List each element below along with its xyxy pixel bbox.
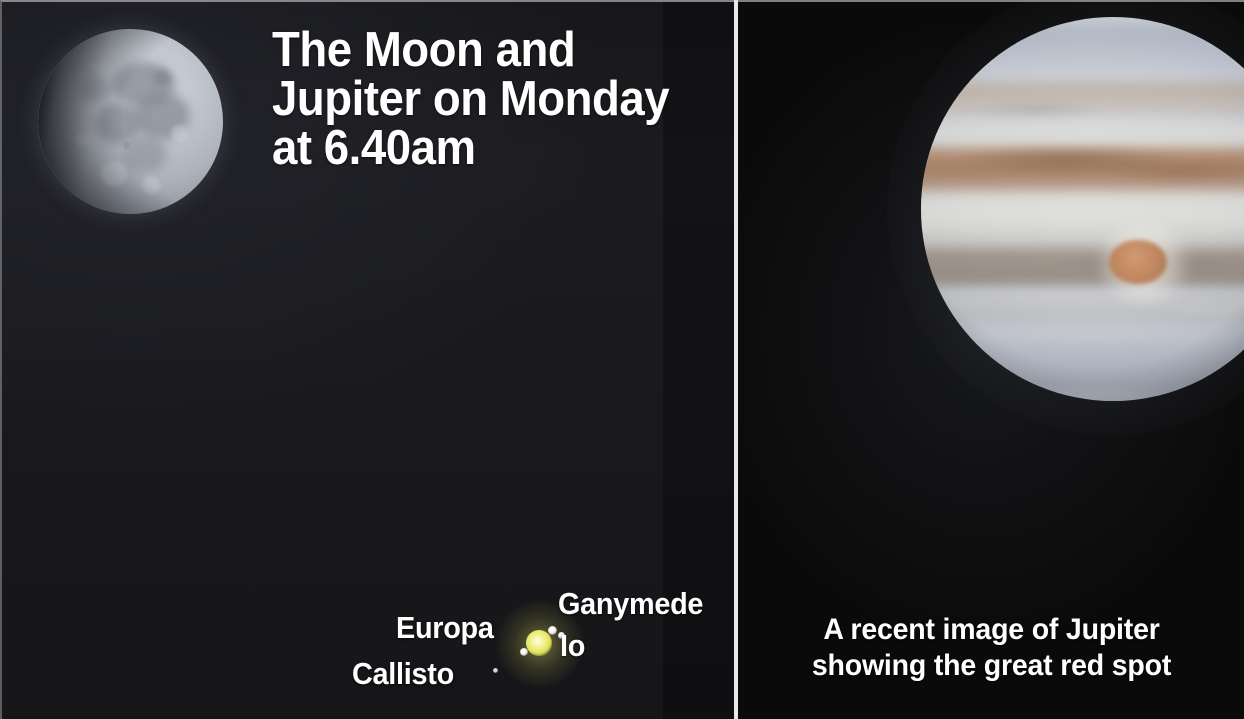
page-title: The Moon and Jupiter on Monday at 6.40am: [272, 26, 691, 173]
callisto-label: Callisto: [352, 658, 454, 689]
ganymede-dot: [548, 626, 557, 635]
left-panel: The Moon and Jupiter on Monday at 6.40am…: [0, 0, 735, 719]
jupiter-moons-diagram: Europa Callisto Ganymede Io: [330, 570, 730, 710]
equatorial-zone: [921, 194, 1244, 232]
south-polar-region: [921, 340, 1244, 394]
io-label: Io: [560, 630, 585, 661]
callisto-dot: [493, 668, 498, 673]
jupiter-photo-caption: A recent image of Jupiter showing the gr…: [752, 612, 1232, 684]
north-polar-region: [921, 25, 1244, 75]
jupiter-photo: [921, 17, 1244, 401]
panel-divider: [734, 0, 738, 719]
jupiter-disc: [921, 17, 1244, 401]
europa-dot: [520, 648, 528, 656]
moon-terminator-shadow: [38, 29, 223, 214]
right-panel: A recent image of Jupiter showing the gr…: [739, 0, 1244, 719]
moon-photo: [38, 29, 223, 214]
jupiter-dot: [526, 630, 552, 656]
astronomy-infographic: The Moon and Jupiter on Monday at 6.40am…: [0, 0, 1244, 719]
great-red-spot: [1109, 240, 1167, 284]
north-temperate-belt: [921, 82, 1244, 117]
europa-label: Europa: [396, 612, 494, 643]
south-temperate-belt: [921, 293, 1244, 324]
north-equatorial-belt: [921, 148, 1244, 194]
moon-disc: [38, 29, 223, 214]
ganymede-label: Ganymede: [558, 588, 703, 619]
